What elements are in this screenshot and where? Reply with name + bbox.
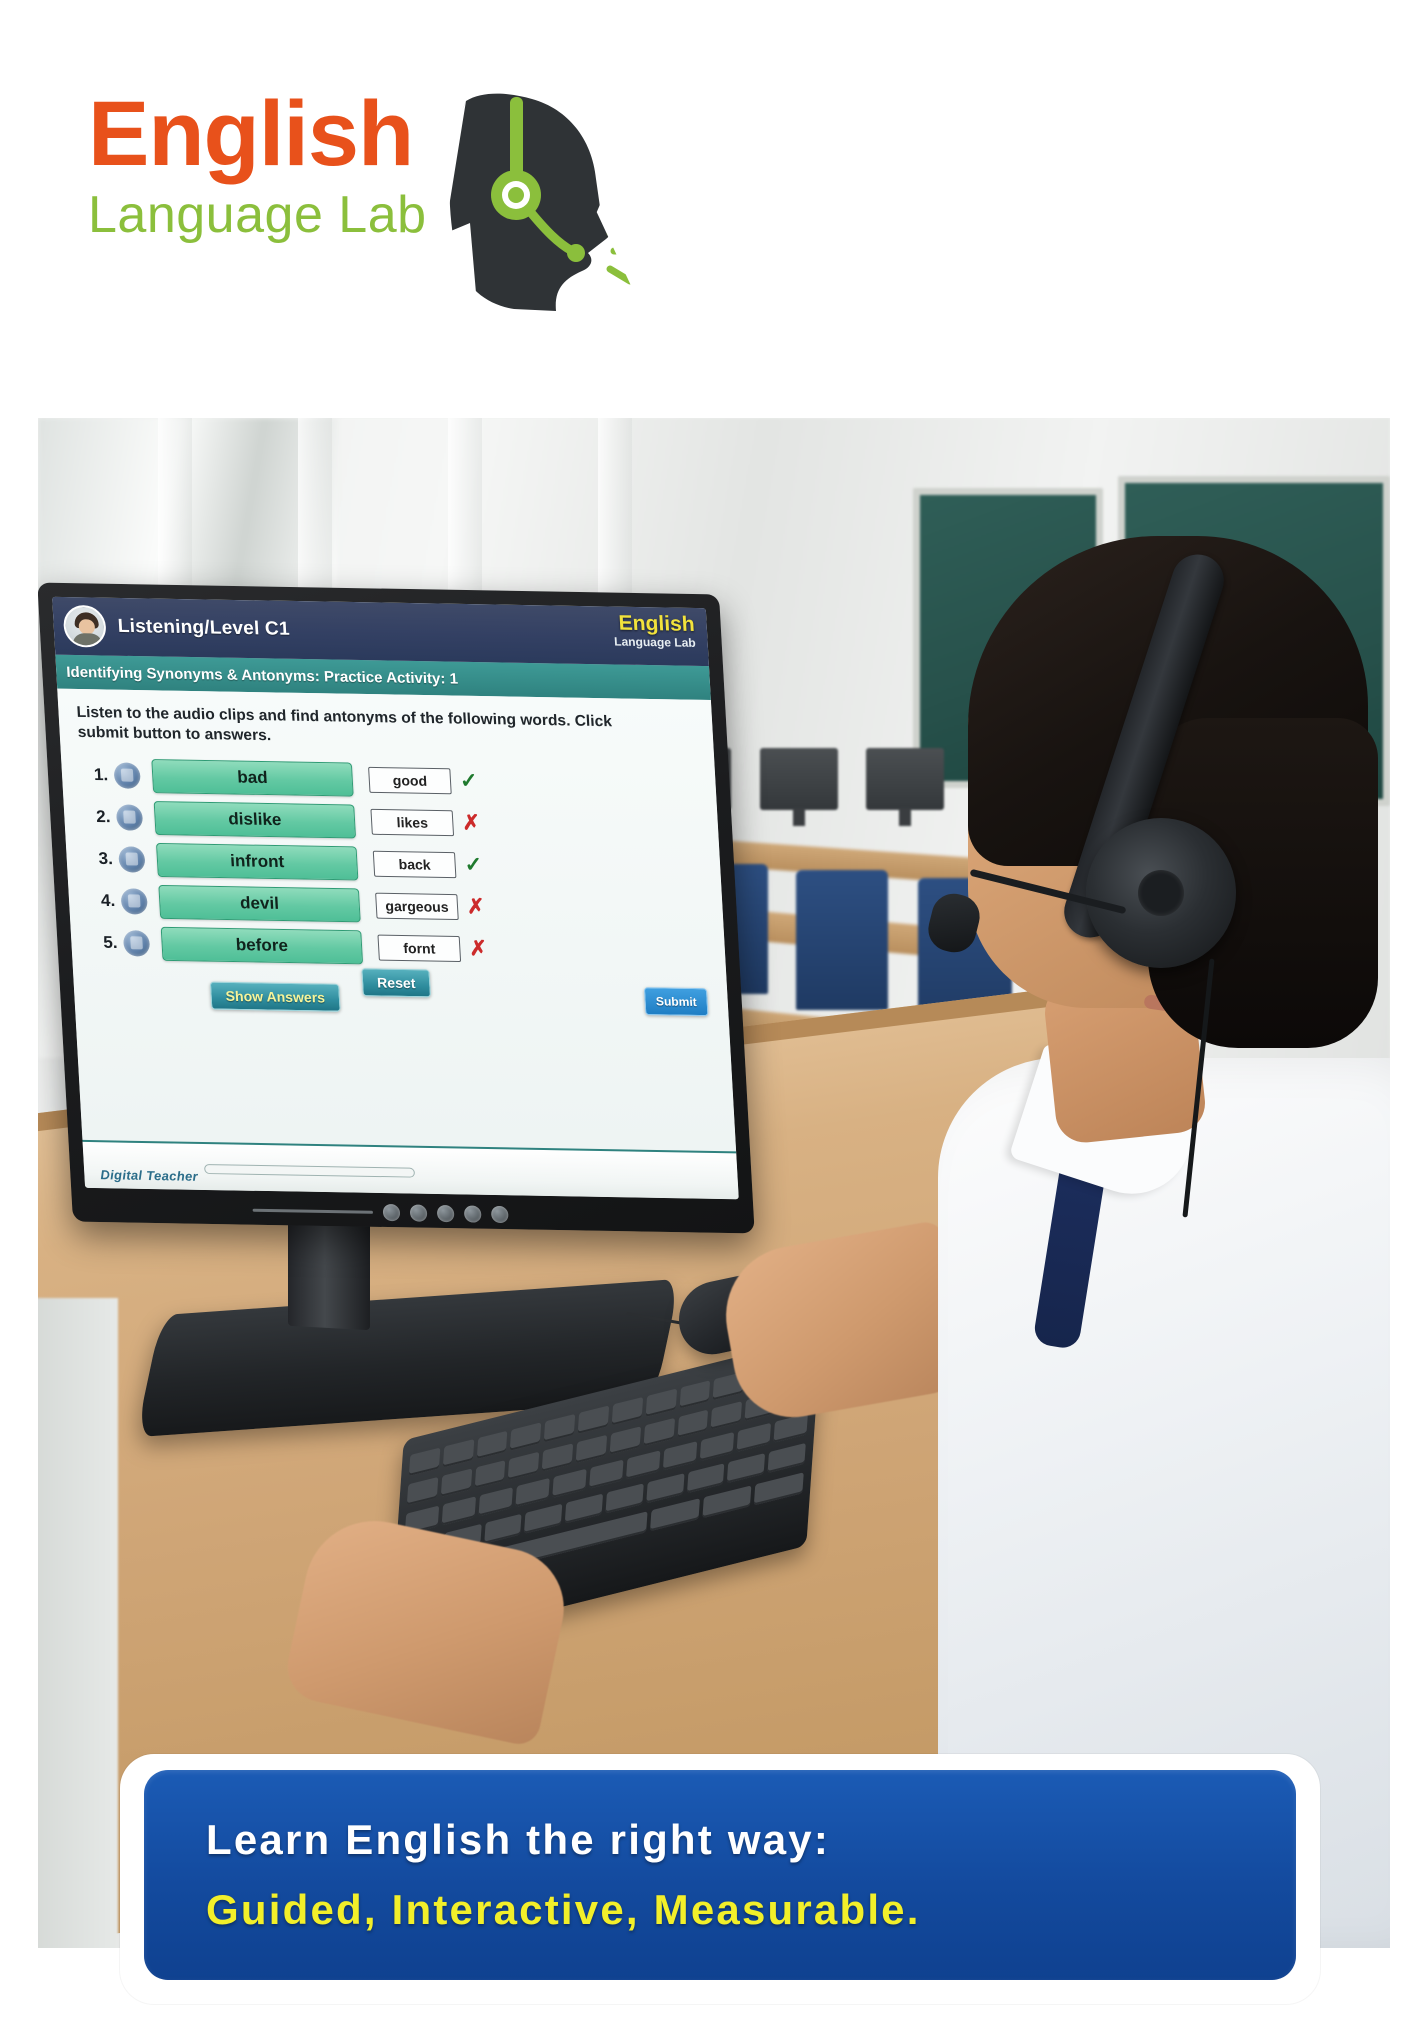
prompt-word: infront (156, 843, 358, 880)
monitor-screen: Listening/Level C1 English Language Lab … (52, 597, 739, 1199)
speaker-icon[interactable] (120, 888, 148, 914)
answer-input[interactable]: good (368, 767, 452, 794)
student-avatar-icon (63, 605, 107, 648)
activity-body: Listen to the audio clips and find anton… (57, 689, 736, 1152)
question-number: 4. (87, 891, 122, 912)
answer-input[interactable]: fornt (377, 935, 461, 962)
reset-button[interactable]: Reset (361, 968, 431, 997)
poster-root: Listening/Level C1 English Language Lab … (0, 0, 1428, 2028)
stop-icon[interactable] (437, 1205, 455, 1222)
question-number: 3. (84, 849, 119, 870)
classroom-photo: Listening/Level C1 English Language Lab … (38, 418, 1390, 1948)
speaker-icon[interactable] (123, 930, 151, 956)
result-mark-incorrect: ✗ (469, 939, 488, 960)
tagline-banner: Learn English the right way: Guided, Int… (144, 1770, 1296, 1980)
tagline-line2: Guided, Interactive, Measurable. (206, 1886, 1296, 1934)
question-rows: 1. bad good ✓ 2. dislike likes ✗ (79, 754, 710, 974)
speaker-icon[interactable] (118, 846, 146, 872)
speaker-icon[interactable] (116, 804, 144, 830)
head-with-headset-icon (436, 83, 636, 313)
prompt-word: before (161, 927, 363, 964)
result-mark-correct: ✓ (464, 855, 483, 876)
speaker-icon[interactable] (113, 762, 141, 788)
show-answers-button[interactable]: Show Answers (210, 981, 341, 1011)
student (818, 418, 1390, 1948)
prompt-word: dislike (154, 801, 356, 838)
activity-instructions: Listen to the audio clips and find anton… (76, 703, 640, 754)
audio-progress-bar[interactable] (204, 1164, 415, 1178)
prompt-word: devil (158, 885, 360, 922)
answer-input[interactable]: back (373, 851, 457, 878)
computer-monitor: Listening/Level C1 English Language Lab … (38, 583, 755, 1234)
question-number: 1. (80, 765, 115, 786)
answer-input[interactable]: likes (370, 809, 454, 836)
result-mark-correct: ✓ (459, 771, 478, 792)
question-number: 2. (82, 807, 117, 828)
question-number: 5. (89, 932, 124, 953)
next-icon[interactable] (491, 1206, 509, 1223)
app-title: Listening/Level C1 (117, 616, 290, 641)
action-buttons: Show Answers Reset Submit (91, 965, 713, 1020)
left-wall-panel (38, 1298, 118, 1948)
answer-input[interactable]: gargeous (375, 893, 459, 920)
play-icon[interactable] (383, 1204, 401, 1221)
brand-logo-card: English Language Lab (36, 0, 688, 408)
headset-earcup (1086, 818, 1236, 968)
app-brand-line1: English (613, 613, 696, 635)
result-mark-incorrect: ✗ (466, 897, 485, 918)
app-brand-logo: English Language Lab (613, 613, 697, 649)
app-brand-line2: Language Lab (614, 636, 696, 649)
submit-button[interactable]: Submit (644, 987, 708, 1016)
pause-icon[interactable] (410, 1204, 428, 1221)
tagline-banner-card: Learn English the right way: Guided, Int… (120, 1754, 1320, 2004)
result-mark-incorrect: ✗ (462, 813, 481, 834)
volume-icon[interactable] (464, 1205, 482, 1222)
digital-teacher-logo: Digital Teacher (100, 1167, 198, 1184)
brand-logo: English Language Lab (88, 89, 608, 319)
tagline-line1: Learn English the right way: (206, 1816, 1296, 1864)
prompt-word: bad (151, 759, 353, 796)
app-header: Listening/Level C1 English Language Lab (52, 597, 709, 666)
player-track[interactable] (253, 1209, 373, 1214)
